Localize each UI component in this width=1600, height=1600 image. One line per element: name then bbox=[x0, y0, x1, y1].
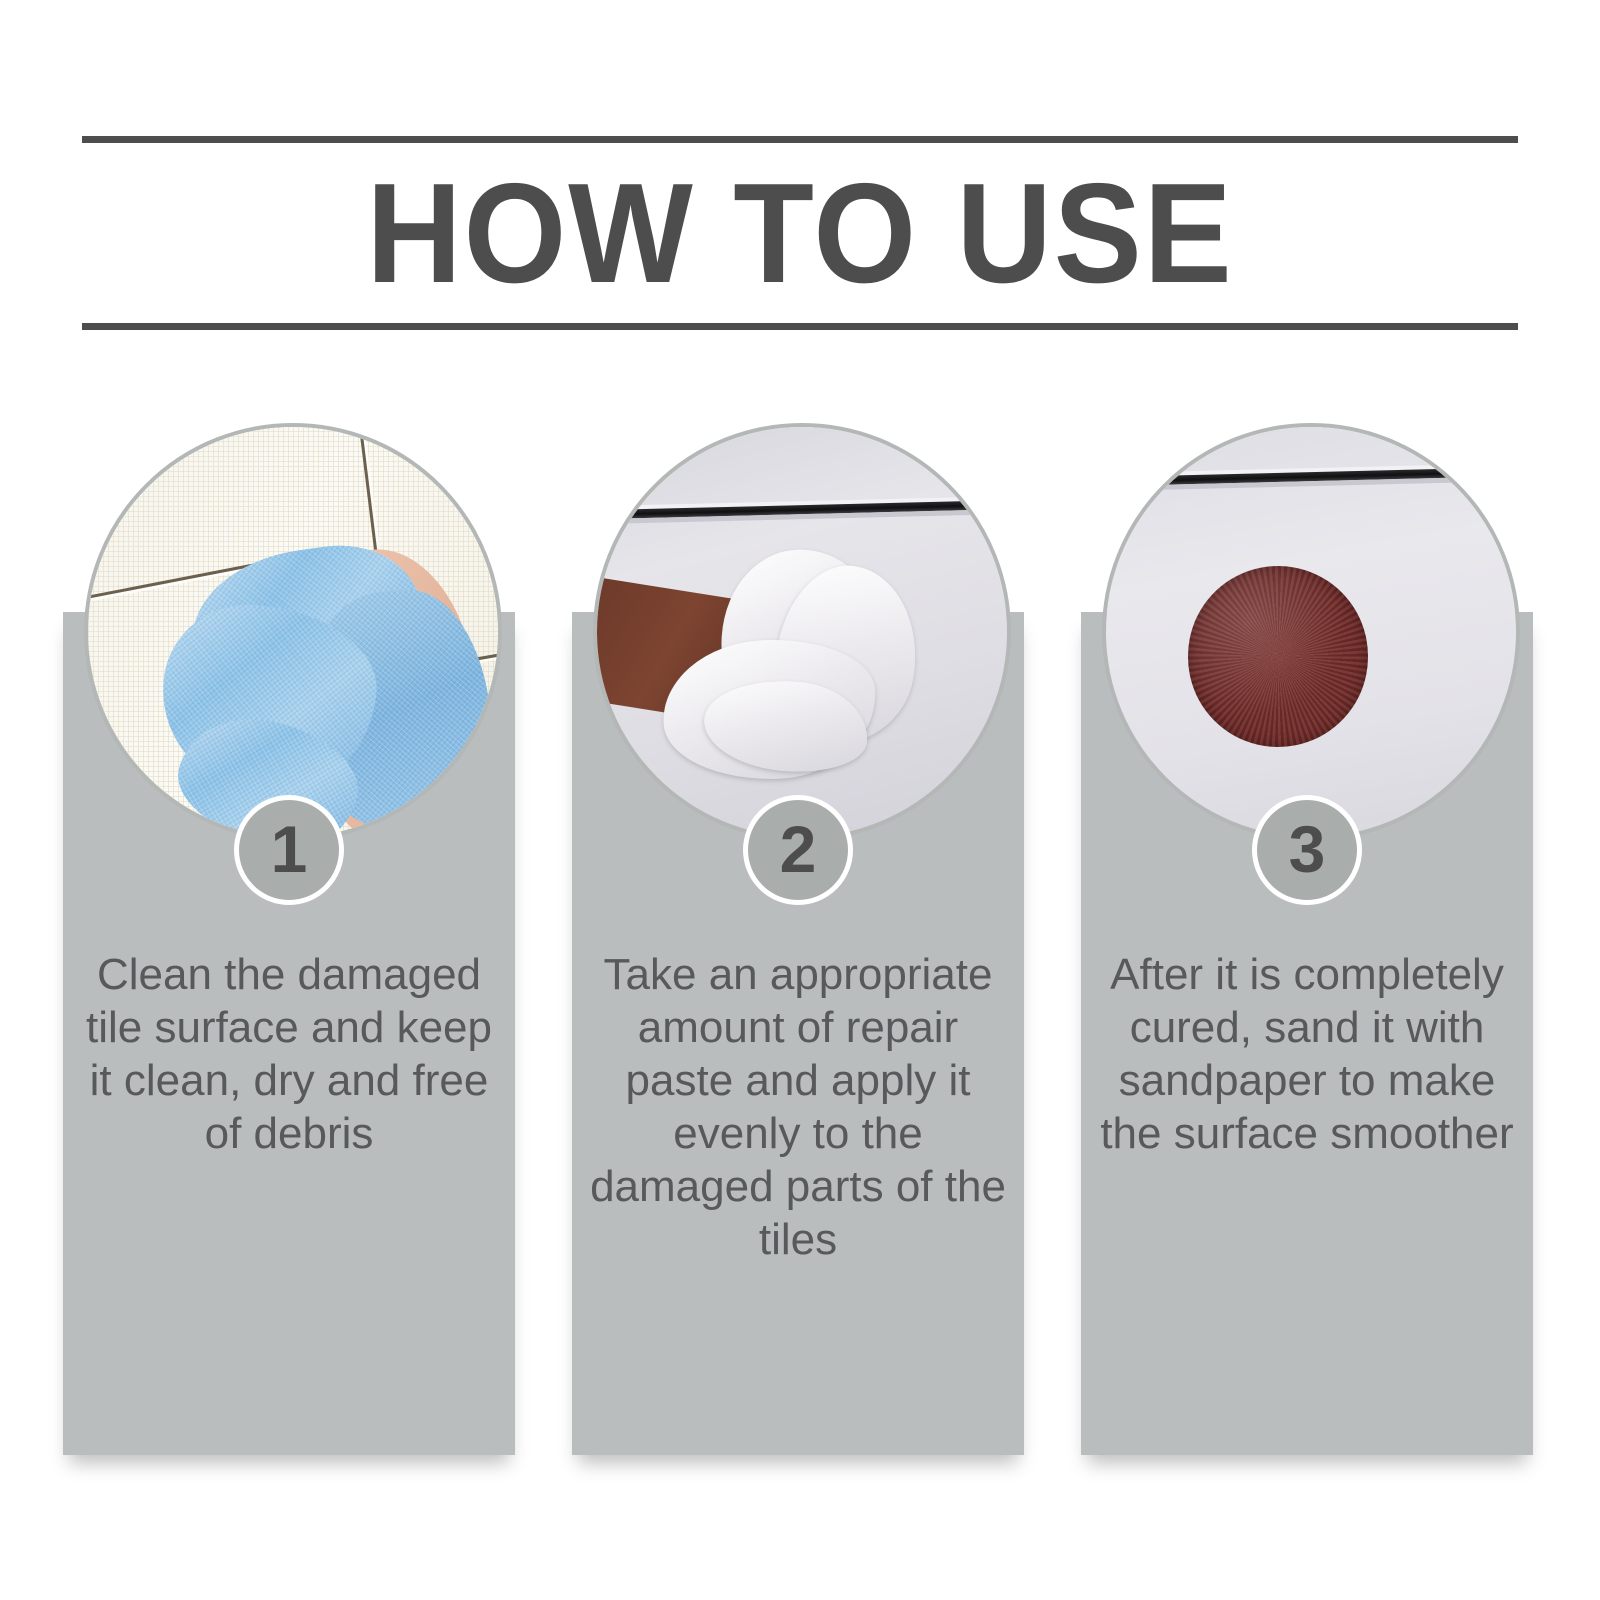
header-rule-top bbox=[82, 136, 1518, 143]
sandpaper-disc bbox=[1188, 566, 1368, 746]
white-repair-paste-on-damaged-tile-photo bbox=[593, 423, 1011, 841]
step-number-1: 1 bbox=[271, 816, 308, 882]
step-card-3: 3 After it is completely cured, sand it … bbox=[1081, 423, 1533, 1455]
step-number-3: 3 bbox=[1289, 816, 1326, 882]
page-title: HOW TO USE bbox=[132, 143, 1467, 323]
step-caption-3: After it is completely cured, sand it wi… bbox=[1095, 948, 1519, 1160]
step-number-badge-1: 1 bbox=[234, 795, 344, 905]
hand-wiping-tile-with-blue-cloth-photo bbox=[84, 423, 502, 841]
step-card-1: 1 Clean the damaged tile surface and kee… bbox=[63, 423, 515, 1455]
header-rule-bottom bbox=[82, 323, 1518, 330]
step-card-2: 2 Take an appropriate amount of repair p… bbox=[572, 423, 1024, 1455]
step-number-badge-3: 3 bbox=[1252, 795, 1362, 905]
red-sandpaper-disc-on-cured-surface-photo bbox=[1102, 423, 1520, 841]
header: HOW TO USE bbox=[82, 136, 1518, 330]
step-caption-1: Clean the damaged tile surface and keep … bbox=[77, 948, 501, 1160]
step-caption-2: Take an appropriate amount of repair pas… bbox=[586, 948, 1010, 1266]
step-number-2: 2 bbox=[780, 816, 817, 882]
step-number-badge-2: 2 bbox=[743, 795, 853, 905]
steps-row: 1 Clean the damaged tile surface and kee… bbox=[63, 423, 1533, 1463]
